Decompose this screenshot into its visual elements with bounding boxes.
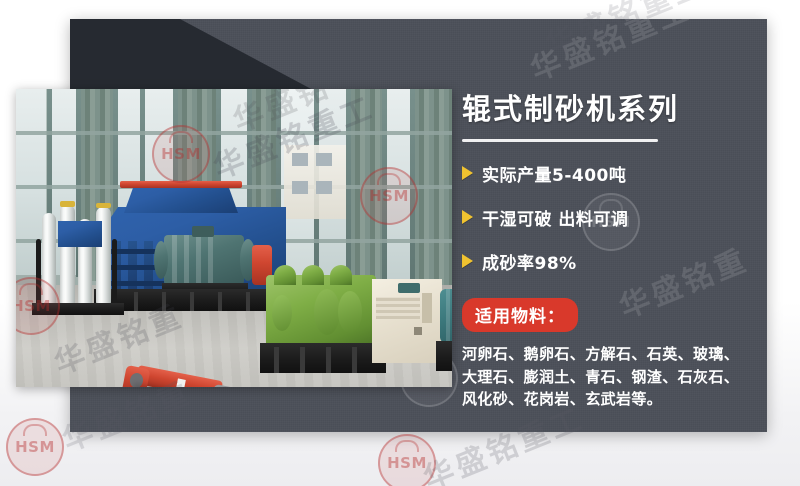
poster-stage: 华盛铭重工 HSM 华盛铭重 HSM 辊式制砂机系列 实际产量5-400吨 干湿… xyxy=(0,0,800,486)
accumulator-bottle xyxy=(60,205,75,305)
hydraulic-hose xyxy=(112,239,117,309)
triangle-bullet-icon xyxy=(462,166,473,180)
cabinet-louvers xyxy=(376,297,420,319)
product-text-column: 辊式制砂机系列 实际产量5-400吨 干湿可破 出料可调 成砂率98% 适用物料… xyxy=(462,94,758,411)
triangle-bullet-icon xyxy=(462,210,473,224)
feature-item: 实际产量5-400吨 xyxy=(462,161,758,186)
hydraulic-hose xyxy=(36,239,41,309)
feature-item: 成砂率98% xyxy=(462,249,758,274)
crusher-hopper xyxy=(124,185,238,213)
cabinet-top-box xyxy=(398,283,420,293)
feature-item: 干湿可破 出料可调 xyxy=(462,205,758,230)
hopper-rim xyxy=(120,181,242,188)
feature-label: 干湿可破 出料可调 xyxy=(482,205,628,230)
materials-badge: 适用物料： xyxy=(462,298,578,332)
watermark-hsm-logo: HSM xyxy=(6,418,64,476)
title-divider xyxy=(462,139,658,142)
page-title: 辊式制砂机系列 xyxy=(462,94,758,126)
feature-label: 实际产量5-400吨 xyxy=(482,161,626,186)
triangle-bullet-icon xyxy=(462,254,473,268)
watermark-hsm-logo: HSM xyxy=(378,434,436,486)
accumulator-bottle xyxy=(42,213,56,305)
product-photo: HSM 华盛铭重工 HSM 华盛铭重 华盛铭 HSM xyxy=(16,89,452,387)
hydraulic-manifold xyxy=(58,221,102,247)
materials-list: 河卵石、鹅卵石、方解石、石英、玻璃、大理石、膨润土、青石、钢渣、石灰石、风化砂、… xyxy=(462,343,752,411)
feature-label: 成砂率98% xyxy=(482,249,577,274)
